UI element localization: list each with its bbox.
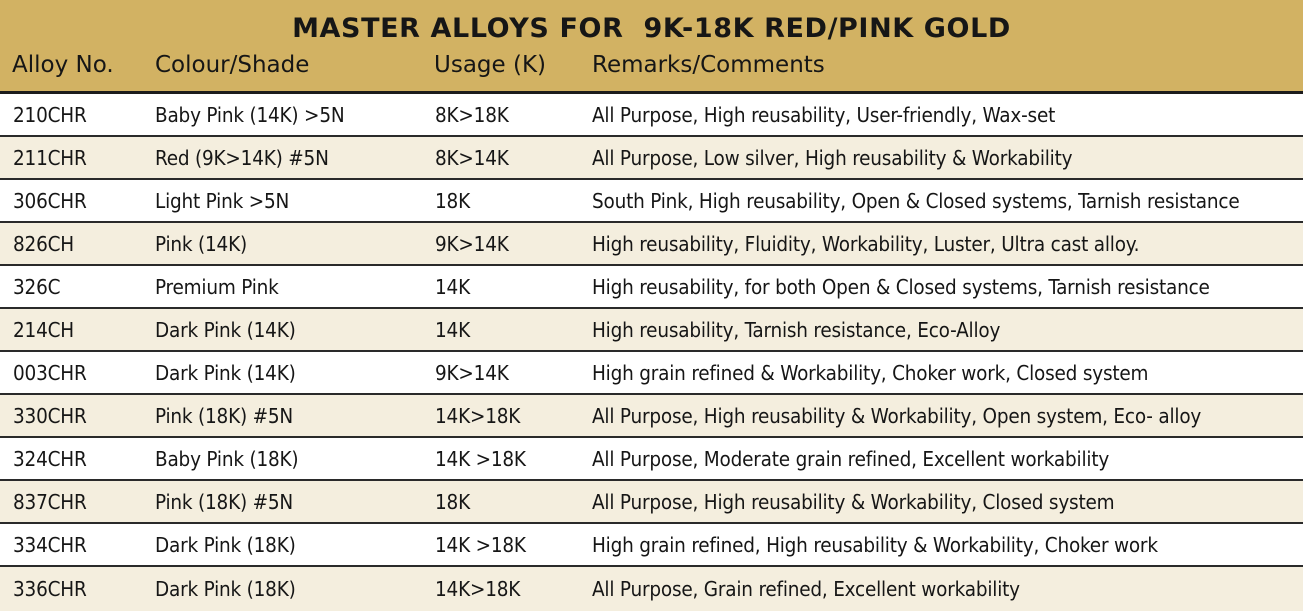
- table-row: 826CH Pink (14K) 9K>14K High reusability…: [0, 223, 1303, 266]
- cell-usage: 14K>18K: [435, 395, 590, 436]
- cell-alloy-no: 003CHR: [13, 352, 153, 393]
- cell-usage: 8K>18K: [435, 94, 590, 135]
- cell-alloy-no: 334CHR: [13, 524, 153, 565]
- page-title: MASTER ALLOYS FOR 9K-18K RED/PINK GOLD: [0, 0, 1303, 46]
- table-row: 336CHR Dark Pink (18K) 14K>18K All Purpo…: [0, 567, 1303, 611]
- cell-remarks: All Purpose, Moderate grain refined, Exc…: [592, 438, 1297, 479]
- cell-remarks: High reusability, Tarnish resistance, Ec…: [592, 309, 1297, 350]
- cell-alloy-no: 210CHR: [13, 94, 153, 135]
- cell-usage: 14K >18K: [435, 438, 590, 479]
- cell-remarks: All Purpose, Low silver, High reusabilit…: [592, 137, 1297, 178]
- column-header-row: Alloy No. Colour/Shade Usage (K) Remarks…: [0, 52, 1303, 92]
- table-row: 334CHR Dark Pink (18K) 14K >18K High gra…: [0, 524, 1303, 567]
- cell-colour-shade: Baby Pink (18K): [155, 438, 433, 479]
- cell-usage: 14K: [435, 309, 590, 350]
- cell-usage: 14K: [435, 266, 590, 307]
- cell-usage: 9K>14K: [435, 352, 590, 393]
- cell-alloy-no: 306CHR: [13, 180, 153, 221]
- cell-colour-shade: Light Pink >5N: [155, 180, 433, 221]
- table-row: 306CHR Light Pink >5N 18K South Pink, Hi…: [0, 180, 1303, 223]
- table-body: 210CHR Baby Pink (14K) >5N 8K>18K All Pu…: [0, 94, 1303, 611]
- cell-alloy-no: 324CHR: [13, 438, 153, 479]
- column-header-remarks: Remarks/Comments: [592, 52, 825, 78]
- table-row: 003CHR Dark Pink (14K) 9K>14K High grain…: [0, 352, 1303, 395]
- cell-alloy-no: 214CH: [13, 309, 153, 350]
- cell-usage: 14K>18K: [435, 567, 590, 611]
- table-header-band: MASTER ALLOYS FOR 9K-18K RED/PINK GOLD A…: [0, 0, 1303, 94]
- cell-usage: 14K >18K: [435, 524, 590, 565]
- cell-alloy-no: 826CH: [13, 223, 153, 264]
- cell-alloy-no: 330CHR: [13, 395, 153, 436]
- cell-remarks: High reusability, Fluidity, Workability,…: [592, 223, 1297, 264]
- cell-remarks: All Purpose, High reusability & Workabil…: [592, 395, 1297, 436]
- cell-remarks: High grain refined & Workability, Choker…: [592, 352, 1297, 393]
- cell-colour-shade: Pink (18K) #5N: [155, 395, 433, 436]
- cell-usage: 18K: [435, 180, 590, 221]
- cell-alloy-no: 211CHR: [13, 137, 153, 178]
- cell-colour-shade: Baby Pink (14K) >5N: [155, 94, 433, 135]
- cell-colour-shade: Dark Pink (14K): [155, 352, 433, 393]
- cell-colour-shade: Pink (18K) #5N: [155, 481, 433, 522]
- table-row: 326C Premium Pink 14K High reusability, …: [0, 266, 1303, 309]
- table-row: 837CHR Pink (18K) #5N 18K All Purpose, H…: [0, 481, 1303, 524]
- table-row: 210CHR Baby Pink (14K) >5N 8K>18K All Pu…: [0, 94, 1303, 137]
- cell-remarks: All Purpose, High reusability & Workabil…: [592, 481, 1297, 522]
- cell-colour-shade: Dark Pink (14K): [155, 309, 433, 350]
- cell-colour-shade: Red (9K>14K) #5N: [155, 137, 433, 178]
- cell-usage: 9K>14K: [435, 223, 590, 264]
- table-row: 330CHR Pink (18K) #5N 14K>18K All Purpos…: [0, 395, 1303, 438]
- cell-usage: 8K>14K: [435, 137, 590, 178]
- cell-remarks: All Purpose, Grain refined, Excellent wo…: [592, 567, 1297, 611]
- cell-usage: 18K: [435, 481, 590, 522]
- cell-colour-shade: Pink (14K): [155, 223, 433, 264]
- column-header-colour-shade: Colour/Shade: [155, 52, 309, 78]
- cell-remarks: High reusability, for both Open & Closed…: [592, 266, 1297, 307]
- cell-alloy-no: 326C: [13, 266, 153, 307]
- table-row: 214CH Dark Pink (14K) 14K High reusabili…: [0, 309, 1303, 352]
- table-row: 324CHR Baby Pink (18K) 14K >18K All Purp…: [0, 438, 1303, 481]
- cell-alloy-no: 837CHR: [13, 481, 153, 522]
- cell-remarks: High grain refined, High reusability & W…: [592, 524, 1297, 565]
- cell-alloy-no: 336CHR: [13, 567, 153, 611]
- master-alloys-table: MASTER ALLOYS FOR 9K-18K RED/PINK GOLD A…: [0, 0, 1303, 611]
- cell-colour-shade: Dark Pink (18K): [155, 524, 433, 565]
- column-header-usage: Usage (K): [434, 52, 546, 78]
- cell-colour-shade: Premium Pink: [155, 266, 433, 307]
- cell-colour-shade: Dark Pink (18K): [155, 567, 433, 611]
- table-row: 211CHR Red (9K>14K) #5N 8K>14K All Purpo…: [0, 137, 1303, 180]
- cell-remarks: All Purpose, High reusability, User-frie…: [592, 94, 1297, 135]
- cell-remarks: South Pink, High reusability, Open & Clo…: [592, 180, 1297, 221]
- column-header-alloy-no: Alloy No.: [12, 52, 114, 78]
